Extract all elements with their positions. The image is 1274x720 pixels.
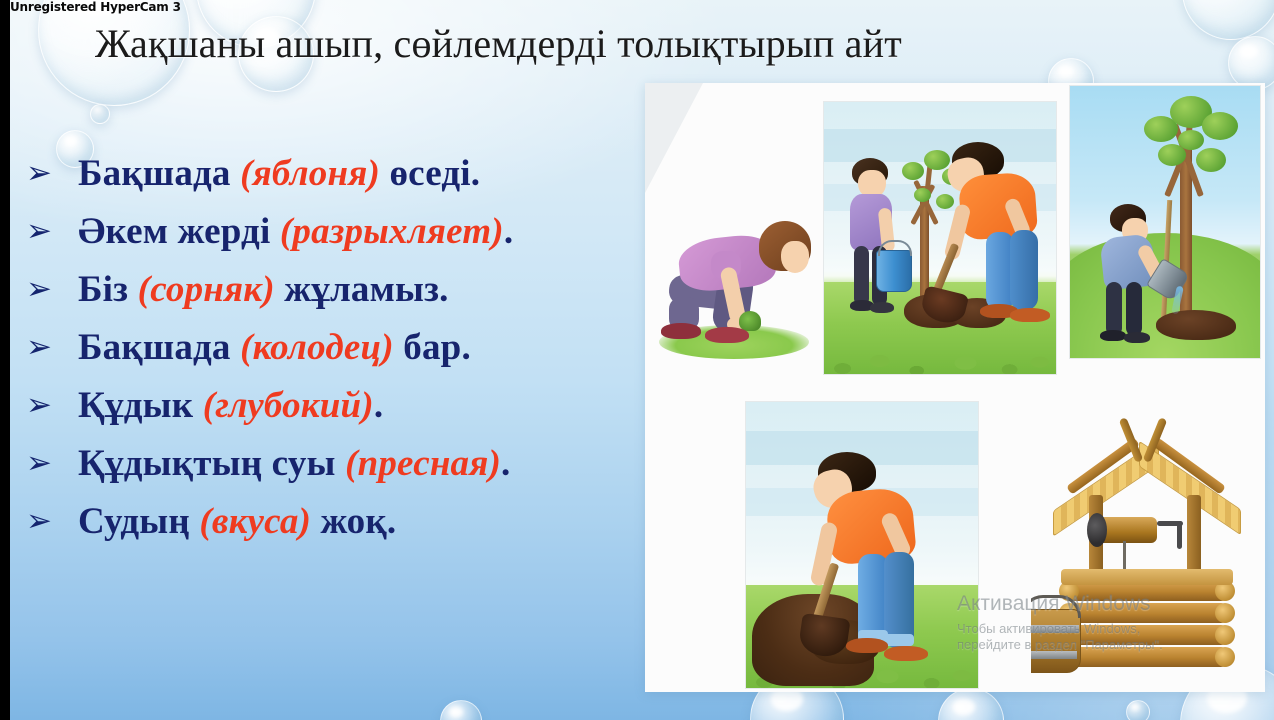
bullet-arrow-icon: ➢	[22, 274, 78, 305]
sentence-text: Бақшада (яблоня) өседі.	[78, 152, 480, 195]
bullet-arrow-icon: ➢	[22, 390, 78, 421]
sentence-before: Құдықтың суы	[78, 443, 345, 484]
sentence-after: жоқ.	[311, 501, 396, 542]
bubble-decoration	[1228, 36, 1274, 90]
man-shoe	[1010, 308, 1050, 322]
bucket-band	[1031, 625, 1079, 633]
bullet-arrow-icon: ➢	[22, 158, 78, 189]
winch-end-cap	[1087, 513, 1107, 547]
boy-leg	[854, 246, 869, 306]
man-shoe	[846, 638, 888, 653]
well-log	[1067, 603, 1227, 623]
list-item: ➢ Құдык (глубокий).	[22, 384, 662, 442]
well-log	[1067, 647, 1227, 667]
list-item: ➢ Судың (вкуса) жоқ.	[22, 500, 662, 558]
sentence-before: Құдык	[78, 385, 203, 426]
sentence-highlight: (разрыхляет)	[280, 211, 504, 252]
face	[781, 241, 809, 273]
sentence-text: Бақшада (колодец) бар.	[78, 326, 471, 369]
shoe	[661, 323, 701, 339]
sentence-highlight: (яблоня)	[240, 153, 380, 194]
tree-foliage	[1178, 130, 1204, 150]
bubble-decoration	[440, 700, 482, 720]
illustration-man-digging-with-shovel	[745, 401, 979, 689]
sentence-after: .	[501, 443, 510, 484]
sentence-after: өседі.	[380, 153, 480, 194]
sentence-highlight: (глубокий)	[203, 385, 374, 426]
sentence-before: Әкем жерді	[78, 211, 280, 252]
bullet-arrow-icon: ➢	[22, 332, 78, 363]
well-log	[1067, 625, 1227, 645]
water-bucket	[876, 250, 912, 292]
list-item: ➢ Әкем жерді (разрыхляет).	[22, 210, 662, 268]
man-leg	[1010, 230, 1038, 310]
sentence-text: Құдықтың суы (пресная).	[78, 442, 511, 485]
sentence-after: .	[504, 211, 513, 252]
bullet-arrow-icon: ➢	[22, 216, 78, 247]
shoe	[705, 327, 749, 343]
sentence-after: .	[374, 385, 383, 426]
presentation-slide: Unregistered HyperCam 3 Жақшаны ашып, сө…	[0, 0, 1274, 720]
jeans-cuff	[884, 634, 914, 646]
hypercam-watermark: Unregistered HyperCam 3	[10, 0, 181, 14]
bubble-decoration	[1126, 700, 1150, 720]
illustration-boy-watering-tree	[1069, 85, 1261, 359]
boy-leg	[1106, 282, 1122, 336]
log-end-cap	[1215, 647, 1235, 667]
man-shoe	[884, 646, 928, 661]
sentence-highlight: (сорняк)	[138, 269, 275, 310]
tree-foliage	[1202, 112, 1238, 140]
list-item: ➢ Бақшада (колодец) бар.	[22, 326, 662, 384]
sentence-text: Біз (сорняк) жұламыз.	[78, 268, 449, 311]
boy-shoe	[1124, 332, 1150, 343]
sapling-leaves	[936, 194, 954, 209]
sentence-highlight: (пресная)	[345, 443, 501, 484]
winch-crank-handle	[1177, 523, 1182, 549]
sentence-text: Құдык (глубокий).	[78, 384, 383, 427]
illustration-woman-weeding-garden	[653, 193, 833, 363]
sentence-before: Судың	[78, 501, 199, 542]
sentence-text: Әкем жерді (разрыхляет).	[78, 210, 513, 253]
sapling-leaves	[902, 162, 924, 180]
list-item: ➢ Біз (сорняк) жұламыз.	[22, 268, 662, 326]
sentence-list: ➢ Бақшада (яблоня) өседі. ➢ Әкем жерді (…	[22, 152, 662, 558]
bullet-arrow-icon: ➢	[22, 448, 78, 479]
sapling-leaves	[924, 150, 950, 170]
log-end-cap	[1215, 603, 1235, 623]
left-letterbox-bar	[0, 0, 10, 720]
bucket-band	[1031, 651, 1077, 659]
sentence-before: Біз	[78, 269, 138, 310]
illustration-panel	[645, 83, 1265, 692]
sentence-highlight: (колодец)	[240, 327, 394, 368]
sentence-highlight: (вкуса)	[199, 501, 311, 542]
wooden-bucket	[1031, 609, 1081, 673]
sentence-before: Бақшада	[78, 153, 240, 194]
boy-leg	[1126, 282, 1142, 336]
sentence-after: бар.	[394, 327, 471, 368]
soil-ring	[1156, 310, 1236, 340]
plant-being-pulled	[739, 311, 761, 331]
tree-foliage	[1196, 148, 1226, 172]
bubble-decoration	[1182, 0, 1274, 40]
sentence-after: жұламыз.	[275, 269, 449, 310]
bubble-decoration	[90, 104, 110, 124]
bullet-arrow-icon: ➢	[22, 506, 78, 537]
bubble-decoration	[938, 688, 1004, 720]
sapling-leaves	[914, 188, 931, 202]
illustration-wooden-well-with-bucket	[1031, 413, 1259, 675]
log-end-cap	[1215, 625, 1235, 645]
bucket-handle	[878, 240, 912, 256]
list-item: ➢ Құдықтың суы (пресная).	[22, 442, 662, 500]
sentence-before: Бақшада	[78, 327, 240, 368]
well-rim	[1061, 569, 1233, 585]
list-item: ➢ Бақшада (яблоня) өседі.	[22, 152, 662, 210]
sentence-text: Судың (вкуса) жоқ.	[78, 500, 396, 543]
boy-shoe	[1100, 330, 1126, 341]
illustration-father-and-son-planting-tree	[823, 101, 1057, 375]
slide-title: Жақшаны ашып, сөйлемдерді толықтырып айт	[95, 20, 902, 67]
boy-shoe	[870, 302, 894, 313]
